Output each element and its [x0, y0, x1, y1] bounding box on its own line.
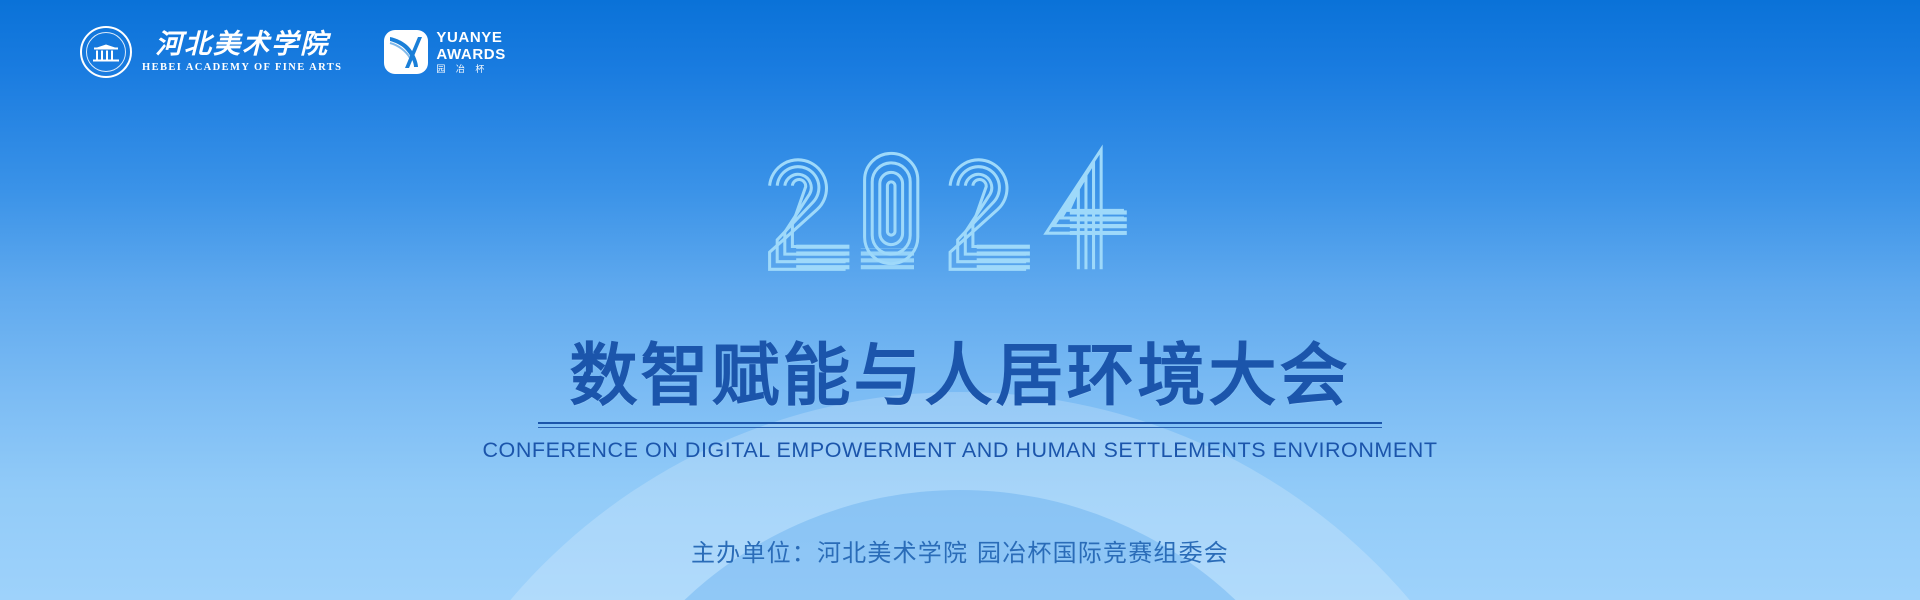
hebei-academy-logo: 河北美术学院 HEBEI ACADEMY OF FINE ARTS	[80, 26, 342, 78]
divider-line-top	[538, 422, 1382, 424]
yuanye-awards-line-3: 园 冶 杯	[436, 65, 505, 74]
yuanye-awards-line-2: AWARDS	[436, 47, 505, 62]
yuanye-awards-logo: YUANYE AWARDS 园 冶 杯	[384, 30, 505, 74]
hebei-academy-seal-icon	[80, 26, 132, 78]
logo-bar: 河北美术学院 HEBEI ACADEMY OF FINE ARTS YUANYE…	[80, 24, 506, 80]
year-2024-graphic	[760, 132, 1160, 292]
yuanye-v-mark-icon	[384, 30, 428, 74]
title-divider	[538, 422, 1382, 428]
hero-title-block: 数智赋能与人居环境大会 CONFERENCE ON DIGITAL EMPOWE…	[0, 338, 1920, 463]
hebei-academy-english-name: HEBEI ACADEMY OF FINE ARTS	[142, 61, 342, 74]
page-subtitle: CONFERENCE ON DIGITAL EMPOWERMENT AND HU…	[482, 438, 1437, 463]
yuanye-awards-line-1: YUANYE	[436, 30, 505, 45]
hebei-academy-wordmark: 河北美术学院 HEBEI ACADEMY OF FINE ARTS	[142, 30, 342, 74]
organizer-text: 主办单位：河北美术学院 园冶杯国际竞赛组委会	[0, 533, 1920, 568]
hebei-academy-chinese-name: 河北美术学院	[155, 30, 329, 60]
page-title: 数智赋能与人居环境大会	[569, 338, 1350, 416]
divider-line-bottom	[538, 427, 1382, 428]
conference-banner: 河北美术学院 HEBEI ACADEMY OF FINE ARTS YUANYE…	[0, 0, 1920, 600]
yuanye-awards-wordmark: YUANYE AWARDS 园 冶 杯	[436, 30, 505, 74]
